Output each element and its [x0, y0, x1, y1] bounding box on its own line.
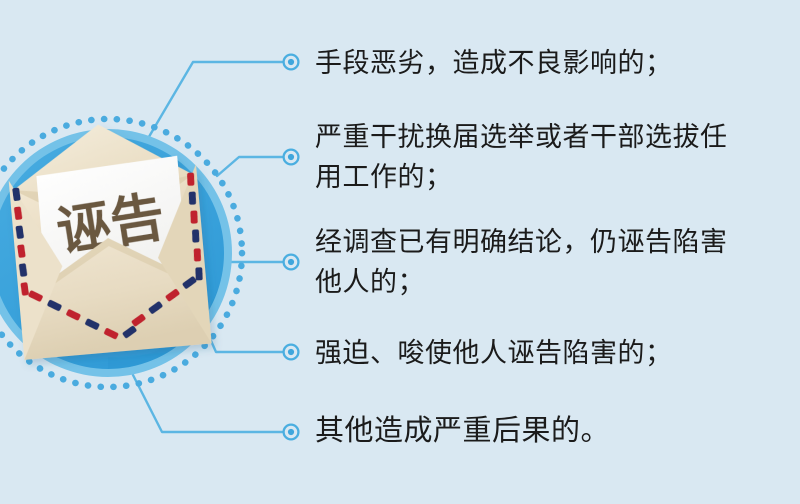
list-item-5: 其他造成严重后果的。 [315, 411, 610, 451]
statement-list: 手段恶劣，造成不良影响的； 严重干扰换届选举或者干部选拔任 用工作的； 经调查已… [0, 0, 800, 504]
list-item-3: 经调查已有明确结论，仍诬告陷害 他人的； [315, 222, 728, 302]
list-item-2: 严重干扰换届选举或者干部选拔任 用工作的； [315, 117, 728, 197]
list-item-4: 强迫、唆使他人诬告陷害的； [315, 333, 673, 373]
infographic-canvas: 诬告 [0, 0, 800, 504]
list-item-1: 手段恶劣，造成不良影响的； [315, 43, 673, 83]
